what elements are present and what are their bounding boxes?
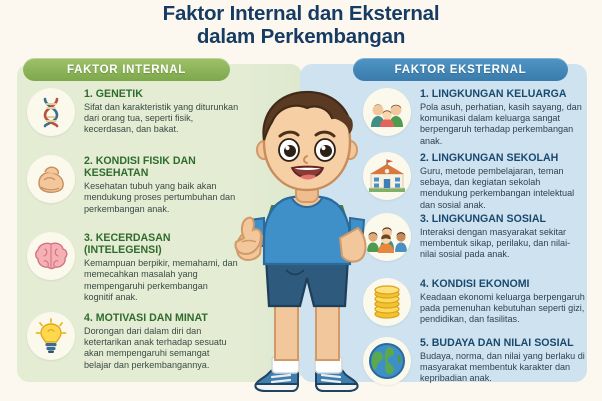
item-body: Sifat dan karakteristik yang diturunkan … <box>84 102 239 136</box>
item-heading: 4. MOTIVASI DAN MINAT <box>84 312 239 324</box>
item-heading: 1. LINGKUNGAN KELUARGA <box>420 88 585 100</box>
smiling-boy-illustration <box>228 78 378 398</box>
external-item-lingkungan-sekolah: 2. LINGKUNGAN SEKOLAH Guru, metode pembe… <box>363 152 585 211</box>
external-item-budaya-nilai-sosial: 5. BUDAYA DAN NILAI SOSIAL Budaya, norma… <box>363 337 585 385</box>
item-heading: 3. KECERDASAN (INTELEGENSI) <box>84 232 239 256</box>
internal-item-kondisi-fisik: 2. KONDISI FISIK DAN KESEHATAN Kesehatan… <box>27 155 239 215</box>
item-body: Guru, metode pembelajaran, teman sebaya,… <box>420 166 585 211</box>
item-body: Interaksi dengan masyarakat sekitar memb… <box>420 227 585 261</box>
internal-badge: FAKTOR INTERNAL <box>23 58 230 81</box>
item-body: Budaya, norma, dan nilai yang berlaku di… <box>420 351 585 385</box>
item-heading: 3. LINGKUNGAN SOSIAL <box>420 213 585 225</box>
internal-item-kecerdasan: 3. KECERDASAN (INTELEGENSI) Kemampuan be… <box>27 232 239 303</box>
item-heading: 5. BUDAYA DAN NILAI SOSIAL <box>420 337 585 349</box>
title-line-2: dalam Perkembangan <box>0 25 602 48</box>
infographic-poster: Faktor Internal dan Eksternal dalam Perk… <box>0 0 602 401</box>
brain-icon <box>27 232 75 280</box>
item-heading: 2. KONDISI FISIK DAN KESEHATAN <box>84 155 239 179</box>
internal-item-genetik: 1. GENETIK Sifat dan karakteristik yang … <box>27 88 239 136</box>
item-body: Pola asuh, perhatian, kasih sayang, dan … <box>420 102 585 147</box>
item-heading: 2. LINGKUNGAN SEKOLAH <box>420 152 585 164</box>
title-line-1: Faktor Internal dan Eksternal <box>163 2 440 25</box>
internal-item-motivasi: 4. MOTIVASI DAN MINAT Dorongan dari dala… <box>27 312 239 371</box>
item-body: Kesehatan tubuh yang baik akan mendukung… <box>84 181 239 215</box>
item-body: Dorongan dari dalam diri dan ketertarika… <box>84 326 239 371</box>
page-title: Faktor Internal dan Eksternal dalam Perk… <box>0 2 602 48</box>
item-body: Kemampuan berpikir, memahami, dan memeca… <box>84 258 239 303</box>
external-badge: FAKTOR EKSTERNAL <box>353 58 568 81</box>
external-item-lingkungan-sosial: 3. LINGKUNGAN SOSIAL Interaksi dengan ma… <box>363 213 585 261</box>
item-heading: 1. GENETIK <box>84 88 239 100</box>
flexed-arm-icon <box>27 155 75 203</box>
item-body: Keadaan ekonomi keluarga berpengaruh pad… <box>420 292 585 326</box>
external-item-lingkungan-keluarga: 1. LINGKUNGAN KELUARGA Pola asuh, perhat… <box>363 88 585 147</box>
dna-icon <box>27 88 75 136</box>
item-heading: 4. KONDISI EKONOMI <box>420 278 585 290</box>
external-item-kondisi-ekonomi: 4. KONDISI EKONOMI Keadaan ekonomi kelua… <box>363 278 585 326</box>
lightbulb-icon <box>27 312 75 360</box>
